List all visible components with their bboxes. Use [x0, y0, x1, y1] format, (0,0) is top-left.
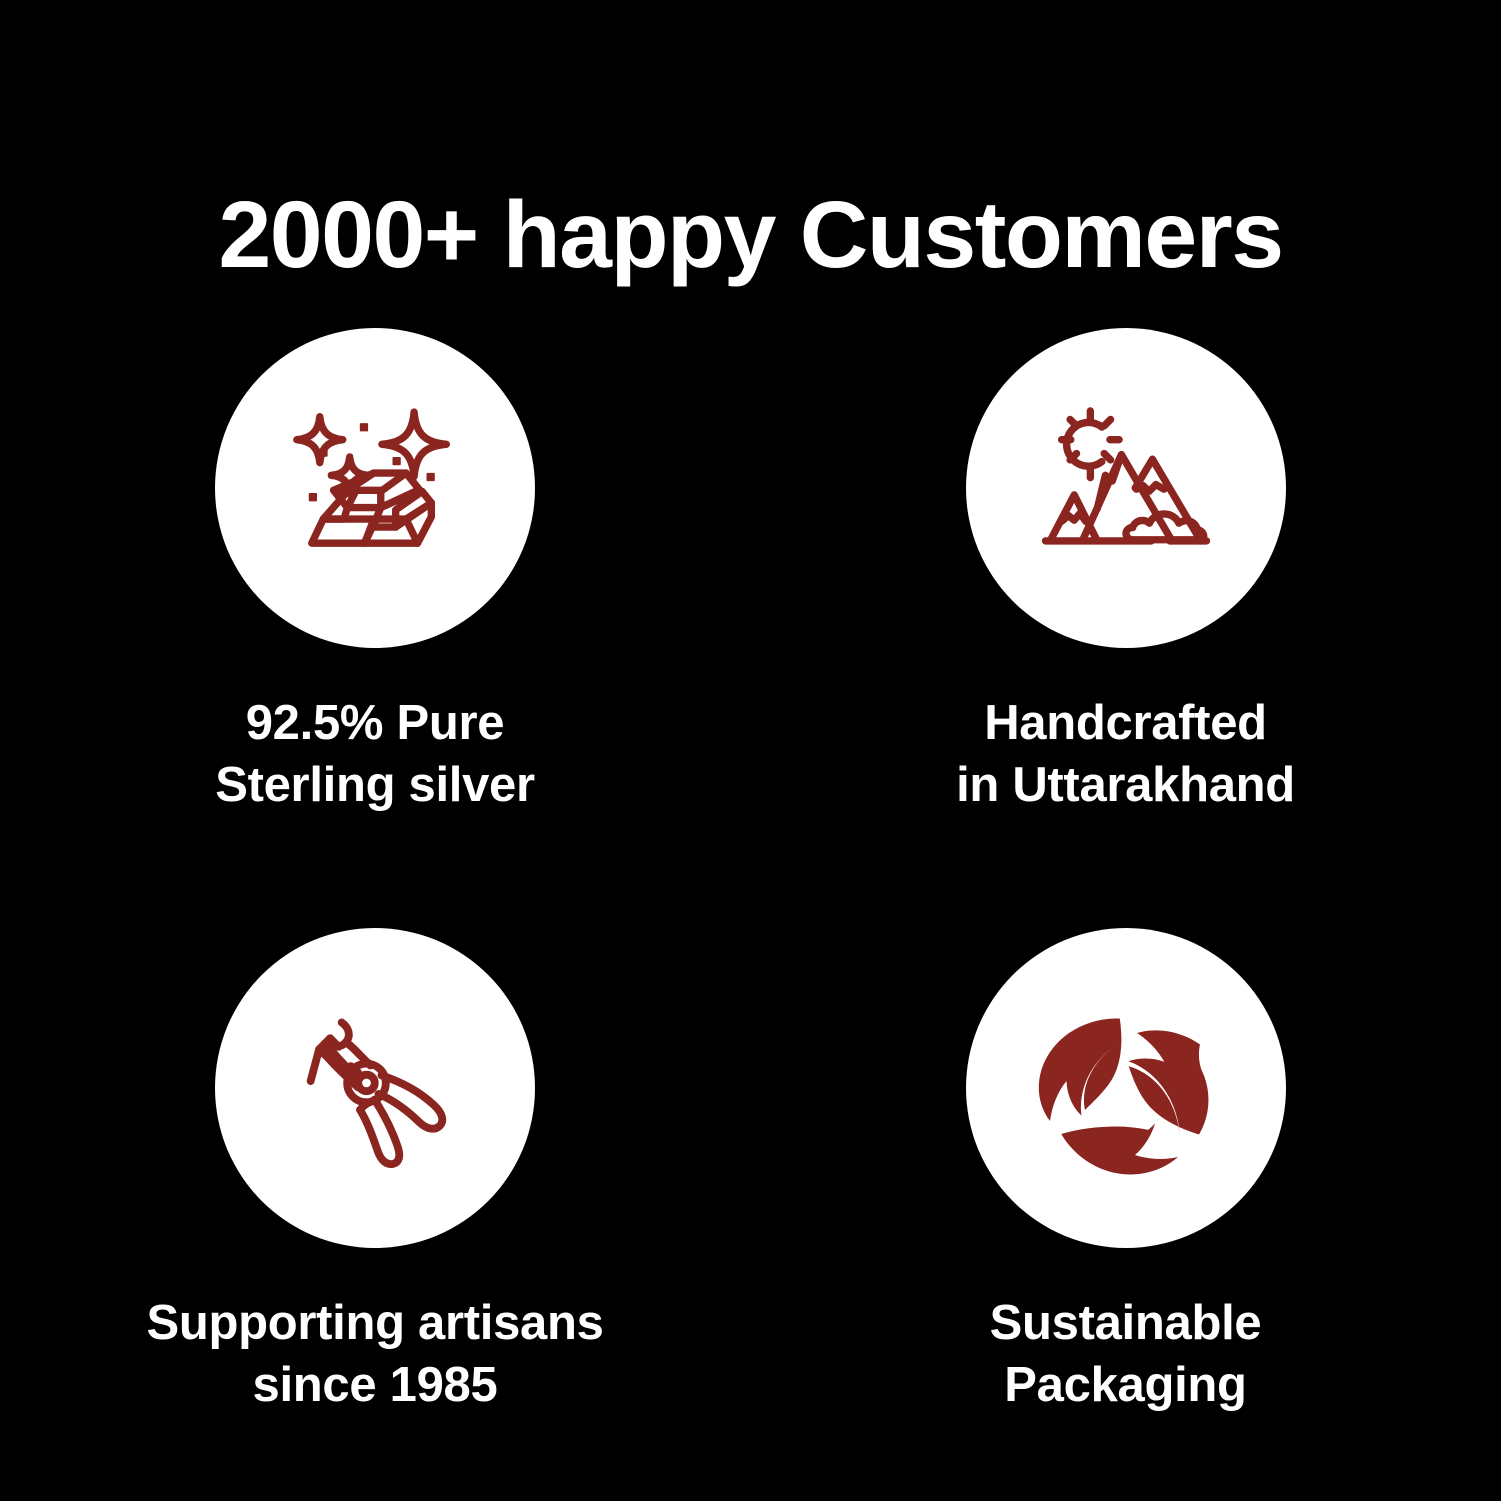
feature-caption: Handcrafted in Uttarakhand — [956, 692, 1295, 816]
badge-circle — [215, 928, 535, 1248]
feature-caption: Supporting artisans since 1985 — [146, 1292, 603, 1416]
caption-line-1: Handcrafted — [956, 692, 1295, 754]
page-title: 2000+ happy Customers — [0, 188, 1501, 283]
badge-circle — [215, 328, 535, 648]
caption-line-2: in Uttarakhand — [956, 754, 1295, 816]
mountains-sun-icon — [1011, 373, 1241, 603]
caption-line-2: since 1985 — [146, 1354, 603, 1416]
badge-circle — [966, 328, 1286, 648]
feature-item-artisans: Supporting artisans since 1985 — [0, 900, 750, 1500]
feature-caption: Sustainable Packaging — [990, 1292, 1262, 1416]
promo-poster: 2000+ happy Customers — [0, 0, 1501, 1501]
caption-line-2: Packaging — [990, 1354, 1262, 1416]
caption-line-1: Supporting artisans — [146, 1292, 603, 1354]
caption-line-1: 92.5% Pure — [215, 692, 535, 754]
feature-item-handcrafted: Handcrafted in Uttarakhand — [750, 300, 1501, 900]
feature-caption: 92.5% Pure Sterling silver — [215, 692, 535, 816]
jewelry-pliers-icon — [260, 973, 490, 1203]
feature-item-sustainable: Sustainable Packaging — [750, 900, 1501, 1500]
caption-line-1: Sustainable — [990, 1292, 1262, 1354]
caption-line-2: Sterling silver — [215, 754, 535, 816]
three-leaves-recycle-icon — [1001, 963, 1251, 1213]
feature-grid: 92.5% Pure Sterling silver — [0, 300, 1501, 1500]
feature-item-sterling-silver: 92.5% Pure Sterling silver — [0, 300, 750, 900]
silver-bars-sparkle-icon — [260, 373, 490, 603]
badge-circle — [966, 928, 1286, 1248]
